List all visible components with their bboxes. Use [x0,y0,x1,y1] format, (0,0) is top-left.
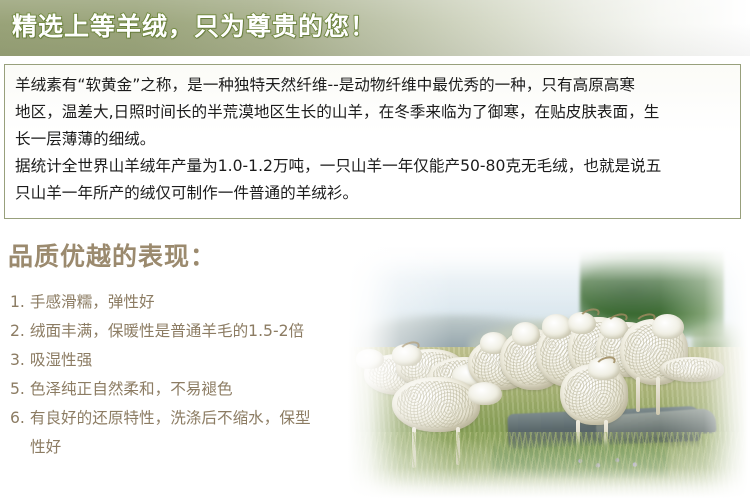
list-item-label: 有良好的还原特性，洗涤后不缩水，保型 [30,409,311,427]
list-item-number: 5. [10,380,25,398]
list-item: 6. 有良好的还原特性，洗涤后不缩水，保型 [10,404,350,433]
description-line: 羊绒素有“软黄金”之称，是一种独特天然纤维--是动物纤维中最优秀的一种，只有高原… [15,72,732,99]
description-line: 只山羊一年所产的绒仅可制作一件普通的羊绒衫。 [15,180,732,207]
list-item: 5. 色泽纯正自然柔和，不易褪色 [10,375,350,404]
list-item: 1. 手感滑糯，弹性好 [10,288,350,317]
photo-edge-fade [348,246,748,498]
quality-feature-list: 1. 手感滑糯，弹性好 2. 绒面丰满，保暖性是普通羊毛的1.5-2倍 3. 吸… [10,288,350,462]
list-item-number: 3. [10,351,25,369]
quality-section-heading: 品质优越的表现： [8,240,216,274]
goat-flock-photo [348,246,748,498]
list-item-number: 1. [10,293,25,311]
list-item-label: 吸湿性强 [30,351,92,369]
description-line: 长一层薄薄的细绒。 [15,126,732,153]
list-item-continuation: 性好 [10,433,350,462]
list-item-number: 6. [10,409,25,427]
description-line: 地区，温差大,日照时间长的半荒漠地区生长的山羊，在冬季来临为了御寒，在贴皮肤表面… [15,99,732,126]
description-line: 据统计全世界山羊绒年产量为1.0-1.2万吨，一只山羊一年仅能产50-80克无毛… [15,153,732,180]
list-item: 2. 绒面丰满，保暖性是普通羊毛的1.5-2倍 [10,317,350,346]
description-box: 羊绒素有“软黄金”之称，是一种独特天然纤维--是动物纤维中最优秀的一种，只有高原… [4,64,741,219]
list-item-label: 色泽纯正自然柔和，不易褪色 [30,380,233,398]
list-item-label: 手感滑糯，弹性好 [30,293,155,311]
list-item-number: 2. [10,322,25,340]
list-item: 3. 吸湿性强 [10,346,350,375]
page-title: 精选上等羊绒，只为尊贵的您！ [12,9,376,45]
header-banner: 精选上等羊绒，只为尊贵的您！ [0,0,750,56]
list-item-label: 绒面丰满，保暖性是普通羊毛的1.5-2倍 [30,322,304,340]
